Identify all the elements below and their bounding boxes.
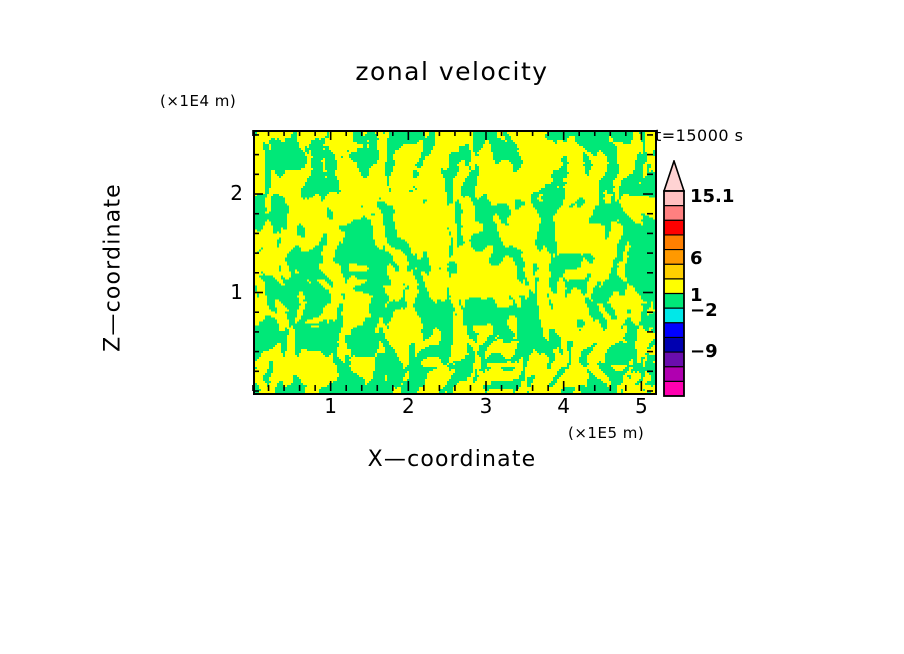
x-tick-label: 2: [388, 394, 428, 418]
x-tick-label: 1: [311, 394, 351, 418]
colorbar-tick-label: 6: [690, 248, 703, 269]
x-axis-title: X—coordinate: [0, 447, 904, 472]
x-tick-label: 5: [621, 394, 661, 418]
y-axis-title: Z—coordinate: [101, 148, 126, 388]
colorbar-tick-label: −9: [690, 341, 718, 362]
colorbar: [663, 160, 683, 395]
heatmap-plot-area: [253, 130, 657, 395]
x-tick-label: 4: [544, 394, 584, 418]
x-axis-unit-label: (×1E5 m): [568, 424, 644, 442]
z-axis-unit-label: (×1E4 m): [160, 92, 236, 110]
page-title: zonal velocity: [0, 57, 904, 86]
x-tick-label: 3: [466, 394, 506, 418]
y-tick-label: 1: [203, 280, 243, 304]
time-stamp-label: t=15000 s: [655, 126, 744, 145]
colorbar-gradient: [663, 160, 685, 397]
zonal-velocity-field: [255, 132, 655, 393]
colorbar-tick-label: 15.1: [690, 186, 734, 207]
colorbar-tick-label: −2: [690, 300, 718, 321]
y-tick-label: 2: [203, 181, 243, 205]
